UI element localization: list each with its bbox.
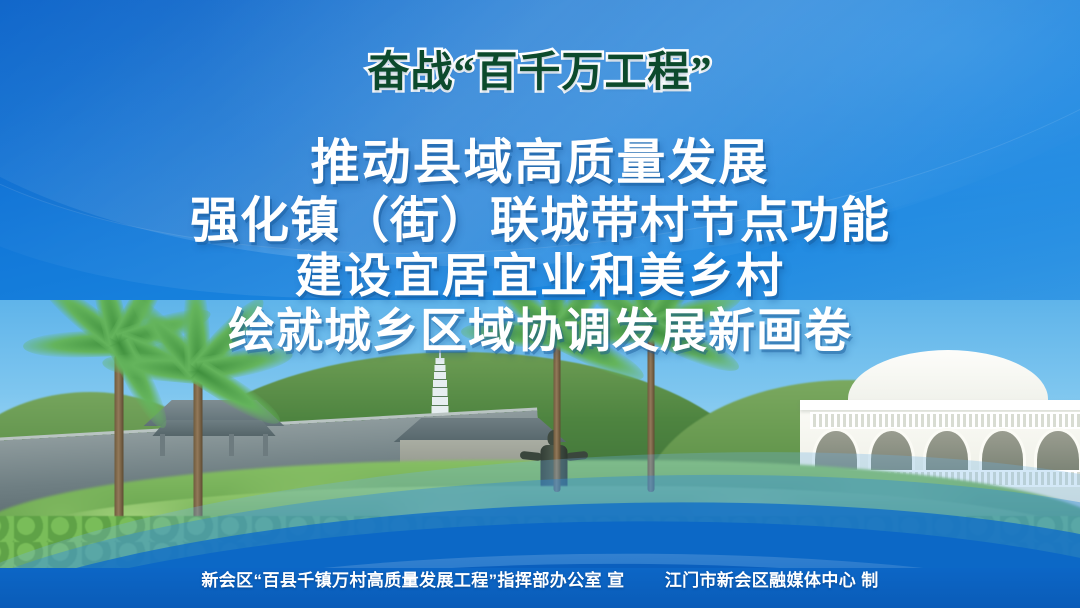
building-arch	[868, 428, 916, 472]
building-arch	[1034, 428, 1080, 472]
kicker-title: 奋战“百千万工程”	[0, 38, 1080, 99]
building-balustrade-upper	[810, 412, 1080, 429]
pagoda-tier	[433, 380, 447, 387]
pagoda-tier	[434, 365, 445, 371]
headline-line-1: 推动县域高质量发展	[0, 134, 1080, 192]
building-arch	[979, 428, 1027, 472]
pagoda-tier	[431, 406, 448, 416]
pagoda-tier	[432, 397, 448, 405]
building-cornice	[800, 400, 1080, 410]
building-arch	[923, 428, 971, 472]
palm-trunk	[194, 378, 203, 538]
pagoda-tower-icon	[431, 358, 448, 416]
headline-block: 推动县域高质量发展 强化镇（街）联城带村节点功能 建设宜居宜业和美乡村 绘就城乡…	[0, 134, 1080, 361]
footer-credits: 新会区“百县千镇万村高质量发展工程”指挥部办公室 宣 江门市新会区融媒体中心 制	[0, 566, 1080, 591]
footer-credit-left: 新会区“百县千镇万村高质量发展工程”指挥部办公室 宣	[201, 571, 624, 590]
headline-line-4: 绘就城乡区域协调发展新画卷	[0, 305, 1080, 360]
headline-line-3: 建设宜居宜业和美乡村	[0, 250, 1080, 305]
pagoda-tier	[432, 388, 447, 396]
palm-trunk	[554, 342, 561, 492]
palm-tree	[118, 358, 278, 538]
pagoda-tier	[434, 372, 446, 379]
poster-canvas: 奋战“百千万工程” 推动县域高质量发展 强化镇（街）联城带村节点功能 建设宜居宜…	[0, 0, 1080, 608]
building-arcade	[812, 428, 1080, 472]
headline-line-2: 强化镇（街）联城带村节点功能	[0, 192, 1080, 250]
footer-credit-right: 江门市新会区融媒体中心 制	[665, 571, 879, 590]
